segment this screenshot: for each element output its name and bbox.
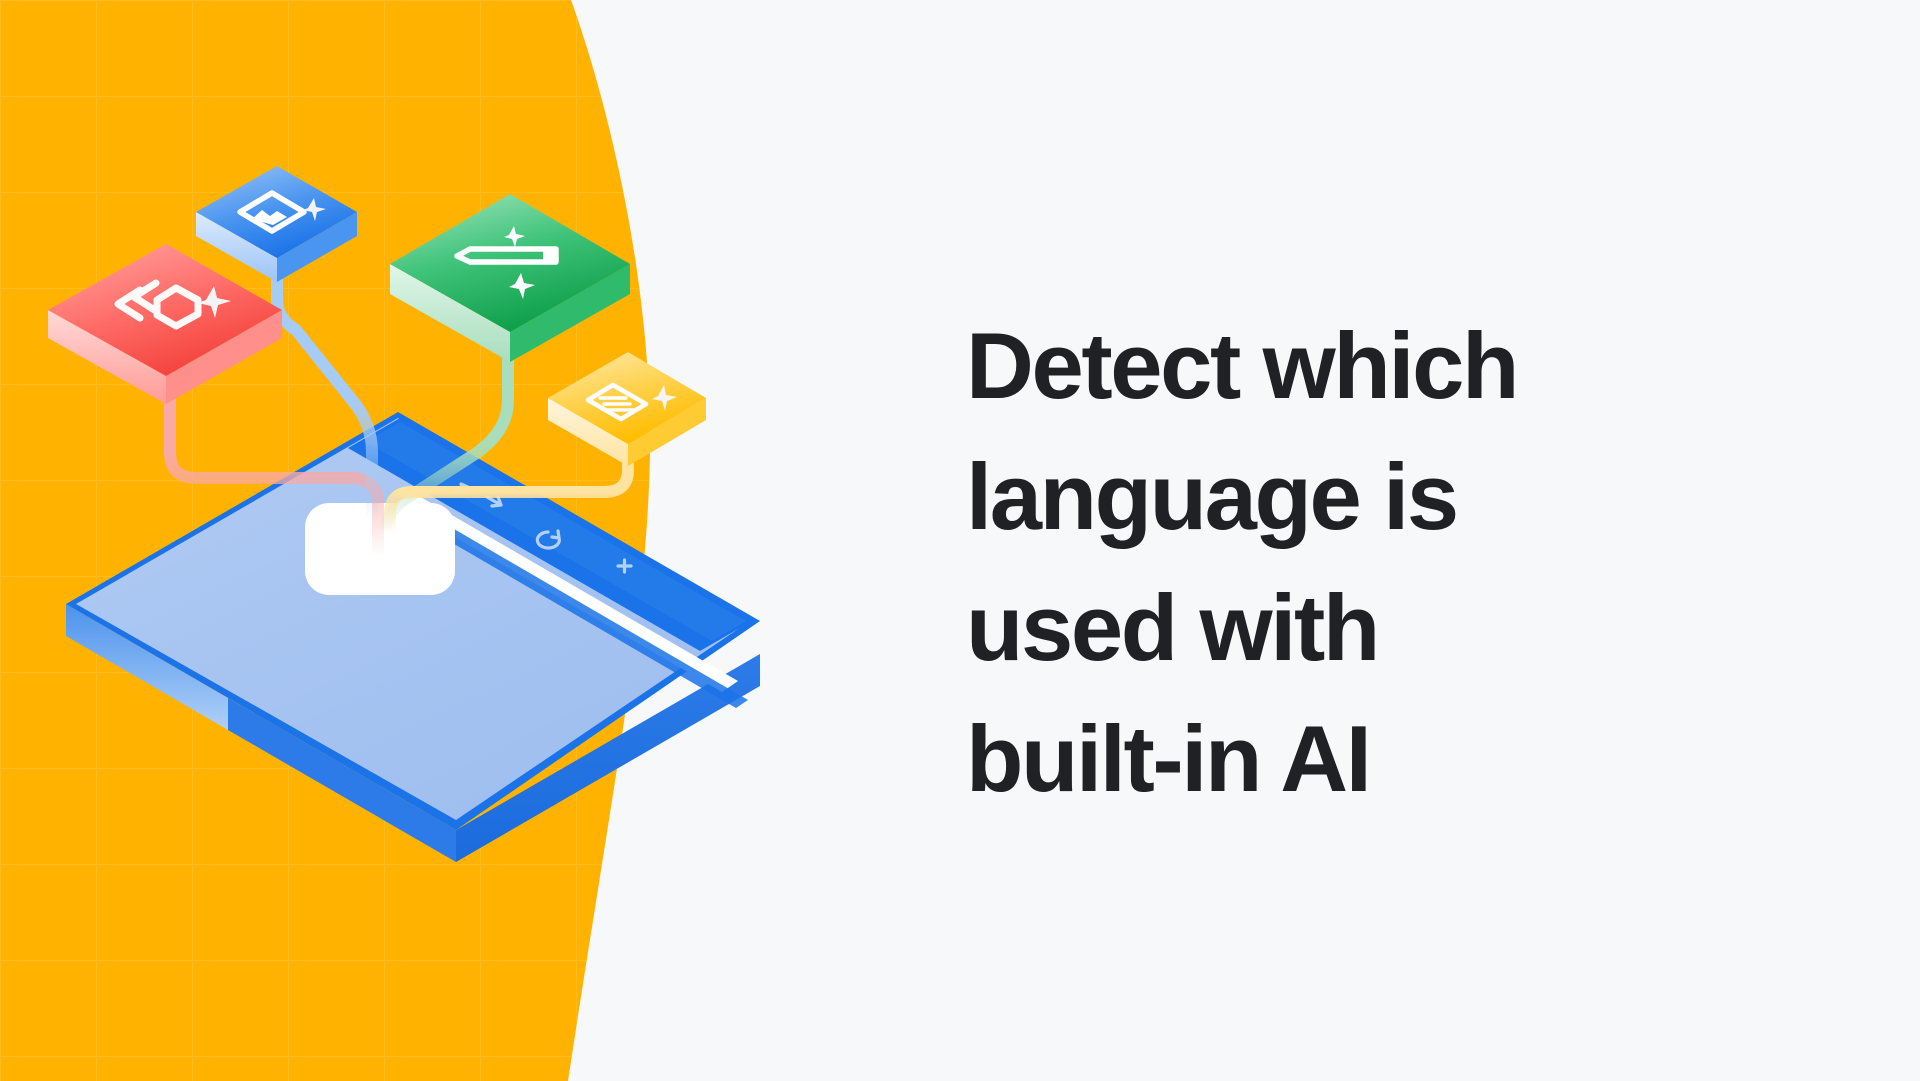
- built-in-ai-illustration: [0, 0, 880, 1081]
- page-title: Detect which language is used with built…: [966, 300, 1806, 824]
- hero-stage: Detect which language is used with built…: [0, 0, 1920, 1081]
- orange-panel: [0, 0, 880, 1081]
